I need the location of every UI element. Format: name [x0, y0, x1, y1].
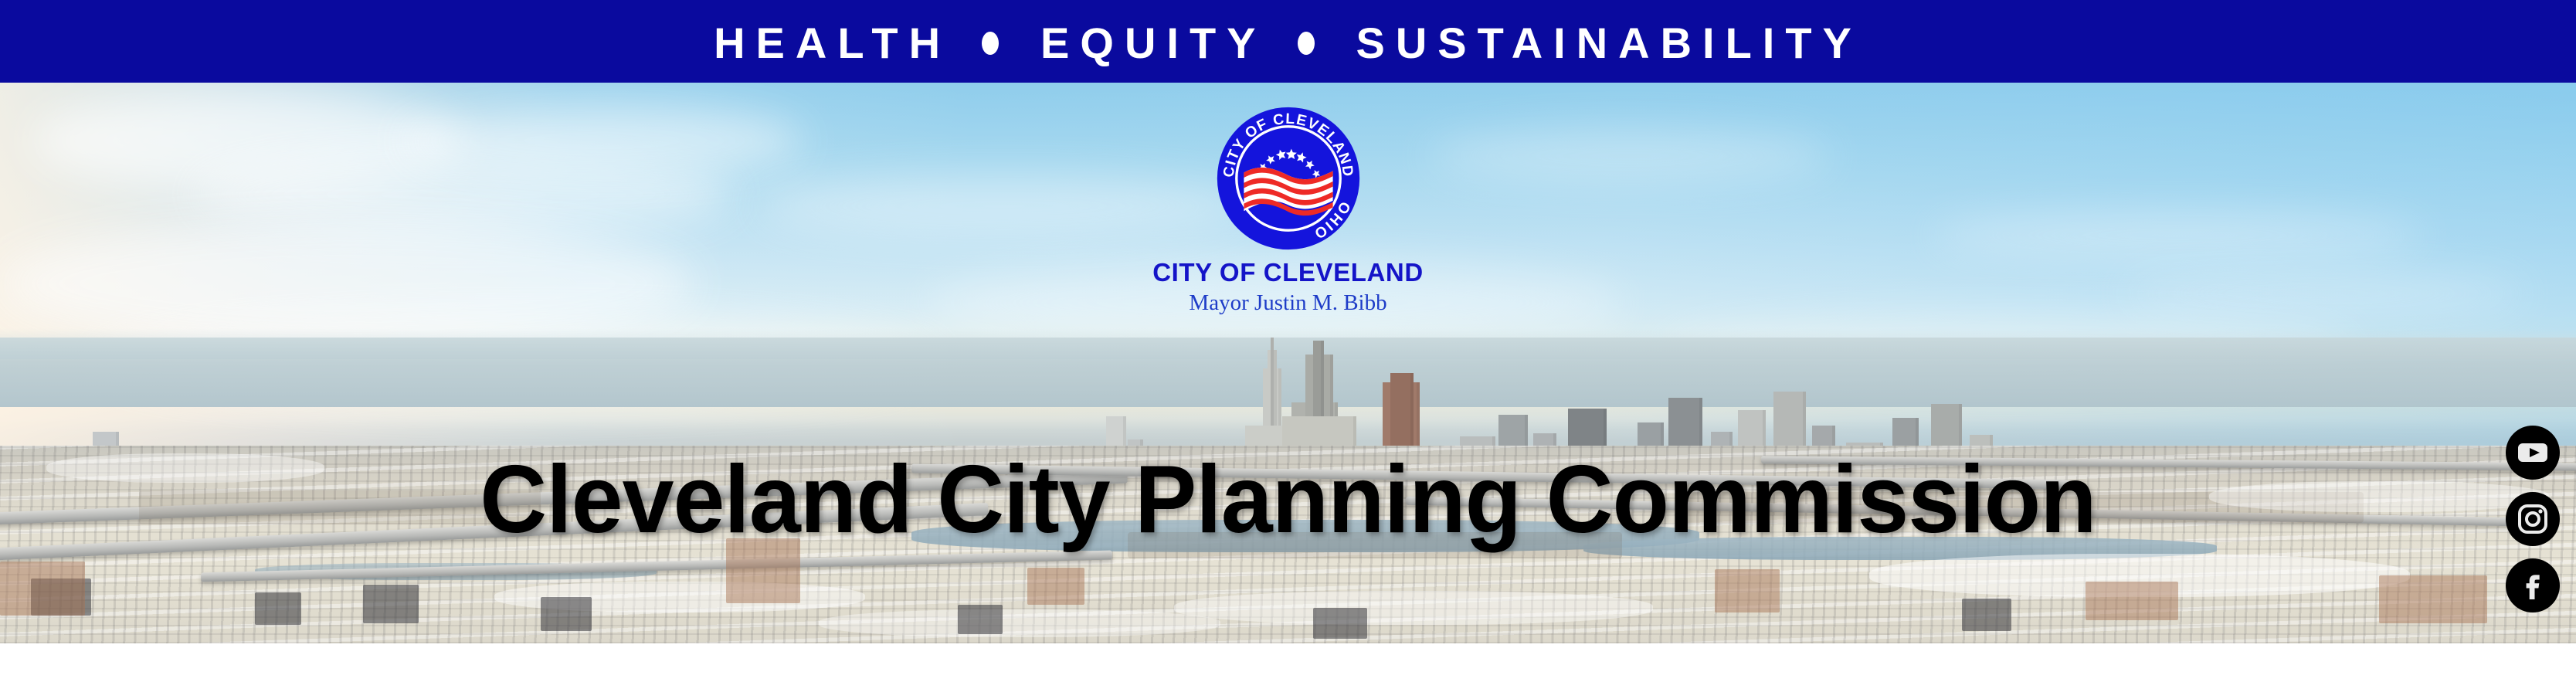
cloud: [1429, 129, 1831, 183]
cloud: [757, 175, 1251, 237]
youtube-link[interactable]: [2506, 426, 2560, 480]
social-links: [2505, 426, 2561, 612]
dot-separator-icon: [1298, 32, 1315, 55]
facebook-icon: [2516, 568, 2550, 602]
instagram-icon: [2516, 502, 2550, 536]
tagline-word-health: HEALTH: [714, 22, 951, 65]
tagline-banner: HEALTH EQUITY SUSTAINABILITY: [0, 0, 2576, 83]
cloud: [2124, 276, 2526, 311]
tagline-word-equity: EQUITY: [1040, 22, 1266, 65]
youtube-icon: [2516, 436, 2550, 470]
tagline-inner: HEALTH EQUITY SUSTAINABILITY: [714, 22, 1862, 65]
cleveland-city-planning-commission-header: HEALTH EQUITY SUSTAINABILITY: [0, 0, 2576, 682]
dot-separator-icon: [982, 32, 999, 55]
page-title: Cleveland City Planning Commission: [39, 452, 2537, 548]
cloud: [1931, 214, 2425, 256]
facebook-link[interactable]: [2506, 558, 2560, 612]
city-seal: CITY OF CLEVELAND OHIO: [1214, 104, 1363, 253]
tagline-word-sustainability: SUSTAINABILITY: [1356, 22, 1862, 65]
cloud: [402, 106, 803, 175]
hero-photo: CITY OF CLEVELAND OHIO: [0, 83, 2576, 643]
bottom-white-strip: [0, 643, 2576, 682]
city-of-cleveland-ohio-seal-icon: CITY OF CLEVELAND OHIO: [1214, 104, 1363, 253]
instagram-link[interactable]: [2506, 492, 2560, 546]
